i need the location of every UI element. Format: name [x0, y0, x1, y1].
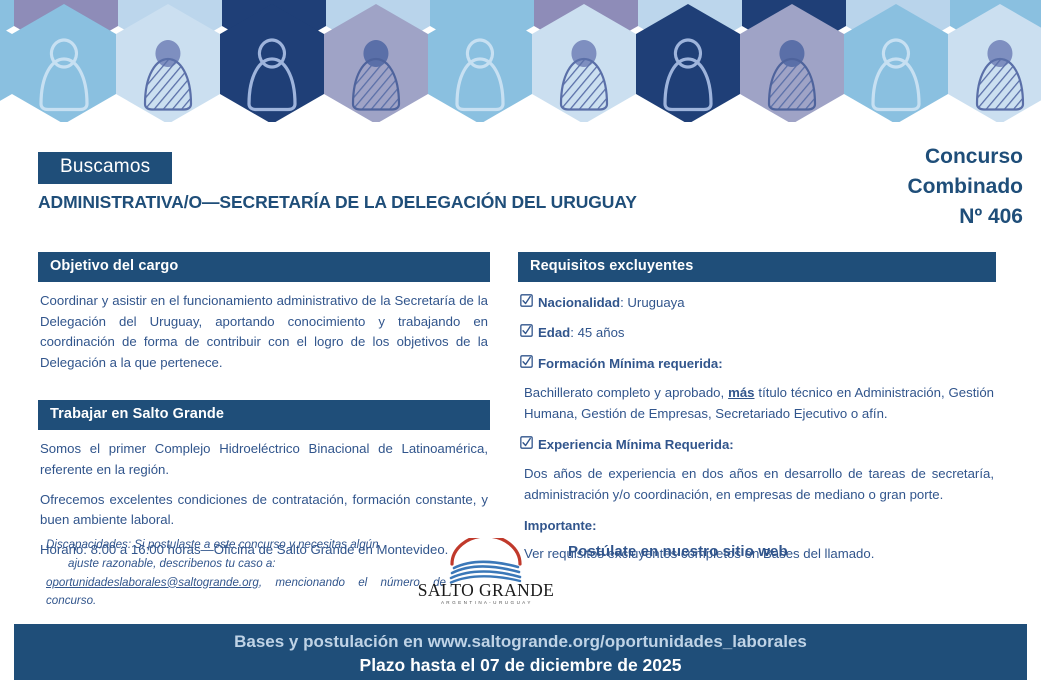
- requirement-value: : 45 años: [570, 325, 624, 340]
- requirement-label: Nacionalidad: [538, 295, 620, 310]
- requirement-label: Experiencia Mínima Requerida:: [538, 435, 734, 455]
- checkbox-checked-icon: [520, 355, 533, 368]
- disability-text-2: ajuste razonable, describenos tu caso a:: [46, 555, 446, 574]
- concurso-line-1: Concurso: [908, 142, 1024, 172]
- formacion-emphasis: más: [728, 385, 754, 400]
- footer-bar: Bases y postulación en www.saltogrande.o…: [14, 624, 1027, 680]
- disability-text-1: Si postulaste a este concurso y necesita…: [131, 538, 378, 551]
- salto-grande-logo: SALTO GRANDE A R G E N T I N A - U R U G…: [412, 538, 560, 606]
- requirement-label: Edad: [538, 325, 570, 340]
- concurso-number: Concurso Combinado Nº 406: [908, 142, 1024, 231]
- header-banner: [0, 0, 1041, 130]
- requirement-formacion: Formación Mínima requerida:: [518, 354, 996, 374]
- experiencia-detail: Dos años de experiencia en dos años en d…: [524, 464, 994, 505]
- requirement-edad: Edad: 45 años: [518, 323, 996, 343]
- trabajar-paragraph-1: Somos el primer Complejo Hidroeléctrico …: [40, 439, 488, 481]
- disability-label: Discapacidades:: [46, 538, 131, 551]
- footer-deadline: Plazo hasta el 07 de diciembre de 2025: [14, 654, 1027, 678]
- section-header-requisitos: Requisitos excluyentes: [518, 252, 996, 282]
- requirement-value: : Uruguaya: [620, 295, 685, 310]
- logo-wordmark: SALTO GRANDE: [418, 580, 555, 600]
- section-header-trabajar: Trabajar en Salto Grande: [38, 400, 490, 430]
- concurso-line-3: Nº 406: [908, 202, 1024, 232]
- section-header-objetivo: Objetivo del cargo: [38, 252, 490, 282]
- concurso-line-2: Combinado: [908, 172, 1024, 202]
- disability-note: Discapacidades: Si postulaste a este con…: [46, 536, 446, 611]
- importante-label: Importante:: [524, 516, 994, 536]
- hexagon-people-pattern-icon: [0, 0, 1041, 130]
- footer-website-link[interactable]: Bases y postulación en www.saltogrande.o…: [14, 624, 1027, 654]
- requirement-experiencia: Experiencia Mínima Requerida:: [518, 435, 996, 455]
- buscamos-badge: Buscamos: [38, 152, 172, 184]
- checkbox-checked-icon: [520, 324, 533, 337]
- logo-subtitle: A R G E N T I N A - U R U G U A Y: [441, 600, 531, 605]
- postulate-text: Postúlate en nuestro sitio web: [568, 543, 788, 560]
- right-column: Requisitos excluyentes Nacionalidad: Uru…: [518, 252, 996, 564]
- left-column: Objetivo del cargo Coordinar y asistir e…: [38, 252, 490, 561]
- salto-grande-logo-icon: SALTO GRANDE A R G E N T I N A - U R U G…: [412, 538, 560, 606]
- trabajar-paragraph-2: Ofrecemos excelentes condiciones de cont…: [40, 490, 488, 532]
- requirement-nacionalidad: Nacionalidad: Uruguaya: [518, 293, 996, 313]
- objetivo-text: Coordinar y asistir en el funcionamiento…: [40, 291, 488, 374]
- checkbox-checked-icon: [520, 294, 533, 307]
- checkbox-checked-icon: [520, 436, 533, 449]
- requirement-label: Formación Mínima requerida:: [538, 354, 723, 374]
- title-block: Buscamos ADMINISTRATIVA/O—SECRETARÍA DE …: [0, 130, 1041, 238]
- disability-email-link[interactable]: oportunidadeslaborales@saltogrande.org: [46, 576, 259, 589]
- formacion-detail: Bachillerato completo y aprobado, más tí…: [524, 383, 994, 424]
- formacion-text-part-1: Bachillerato completo y aprobado,: [524, 385, 724, 400]
- page-title: ADMINISTRATIVA/O—SECRETARÍA DE LA DELEGA…: [38, 192, 637, 213]
